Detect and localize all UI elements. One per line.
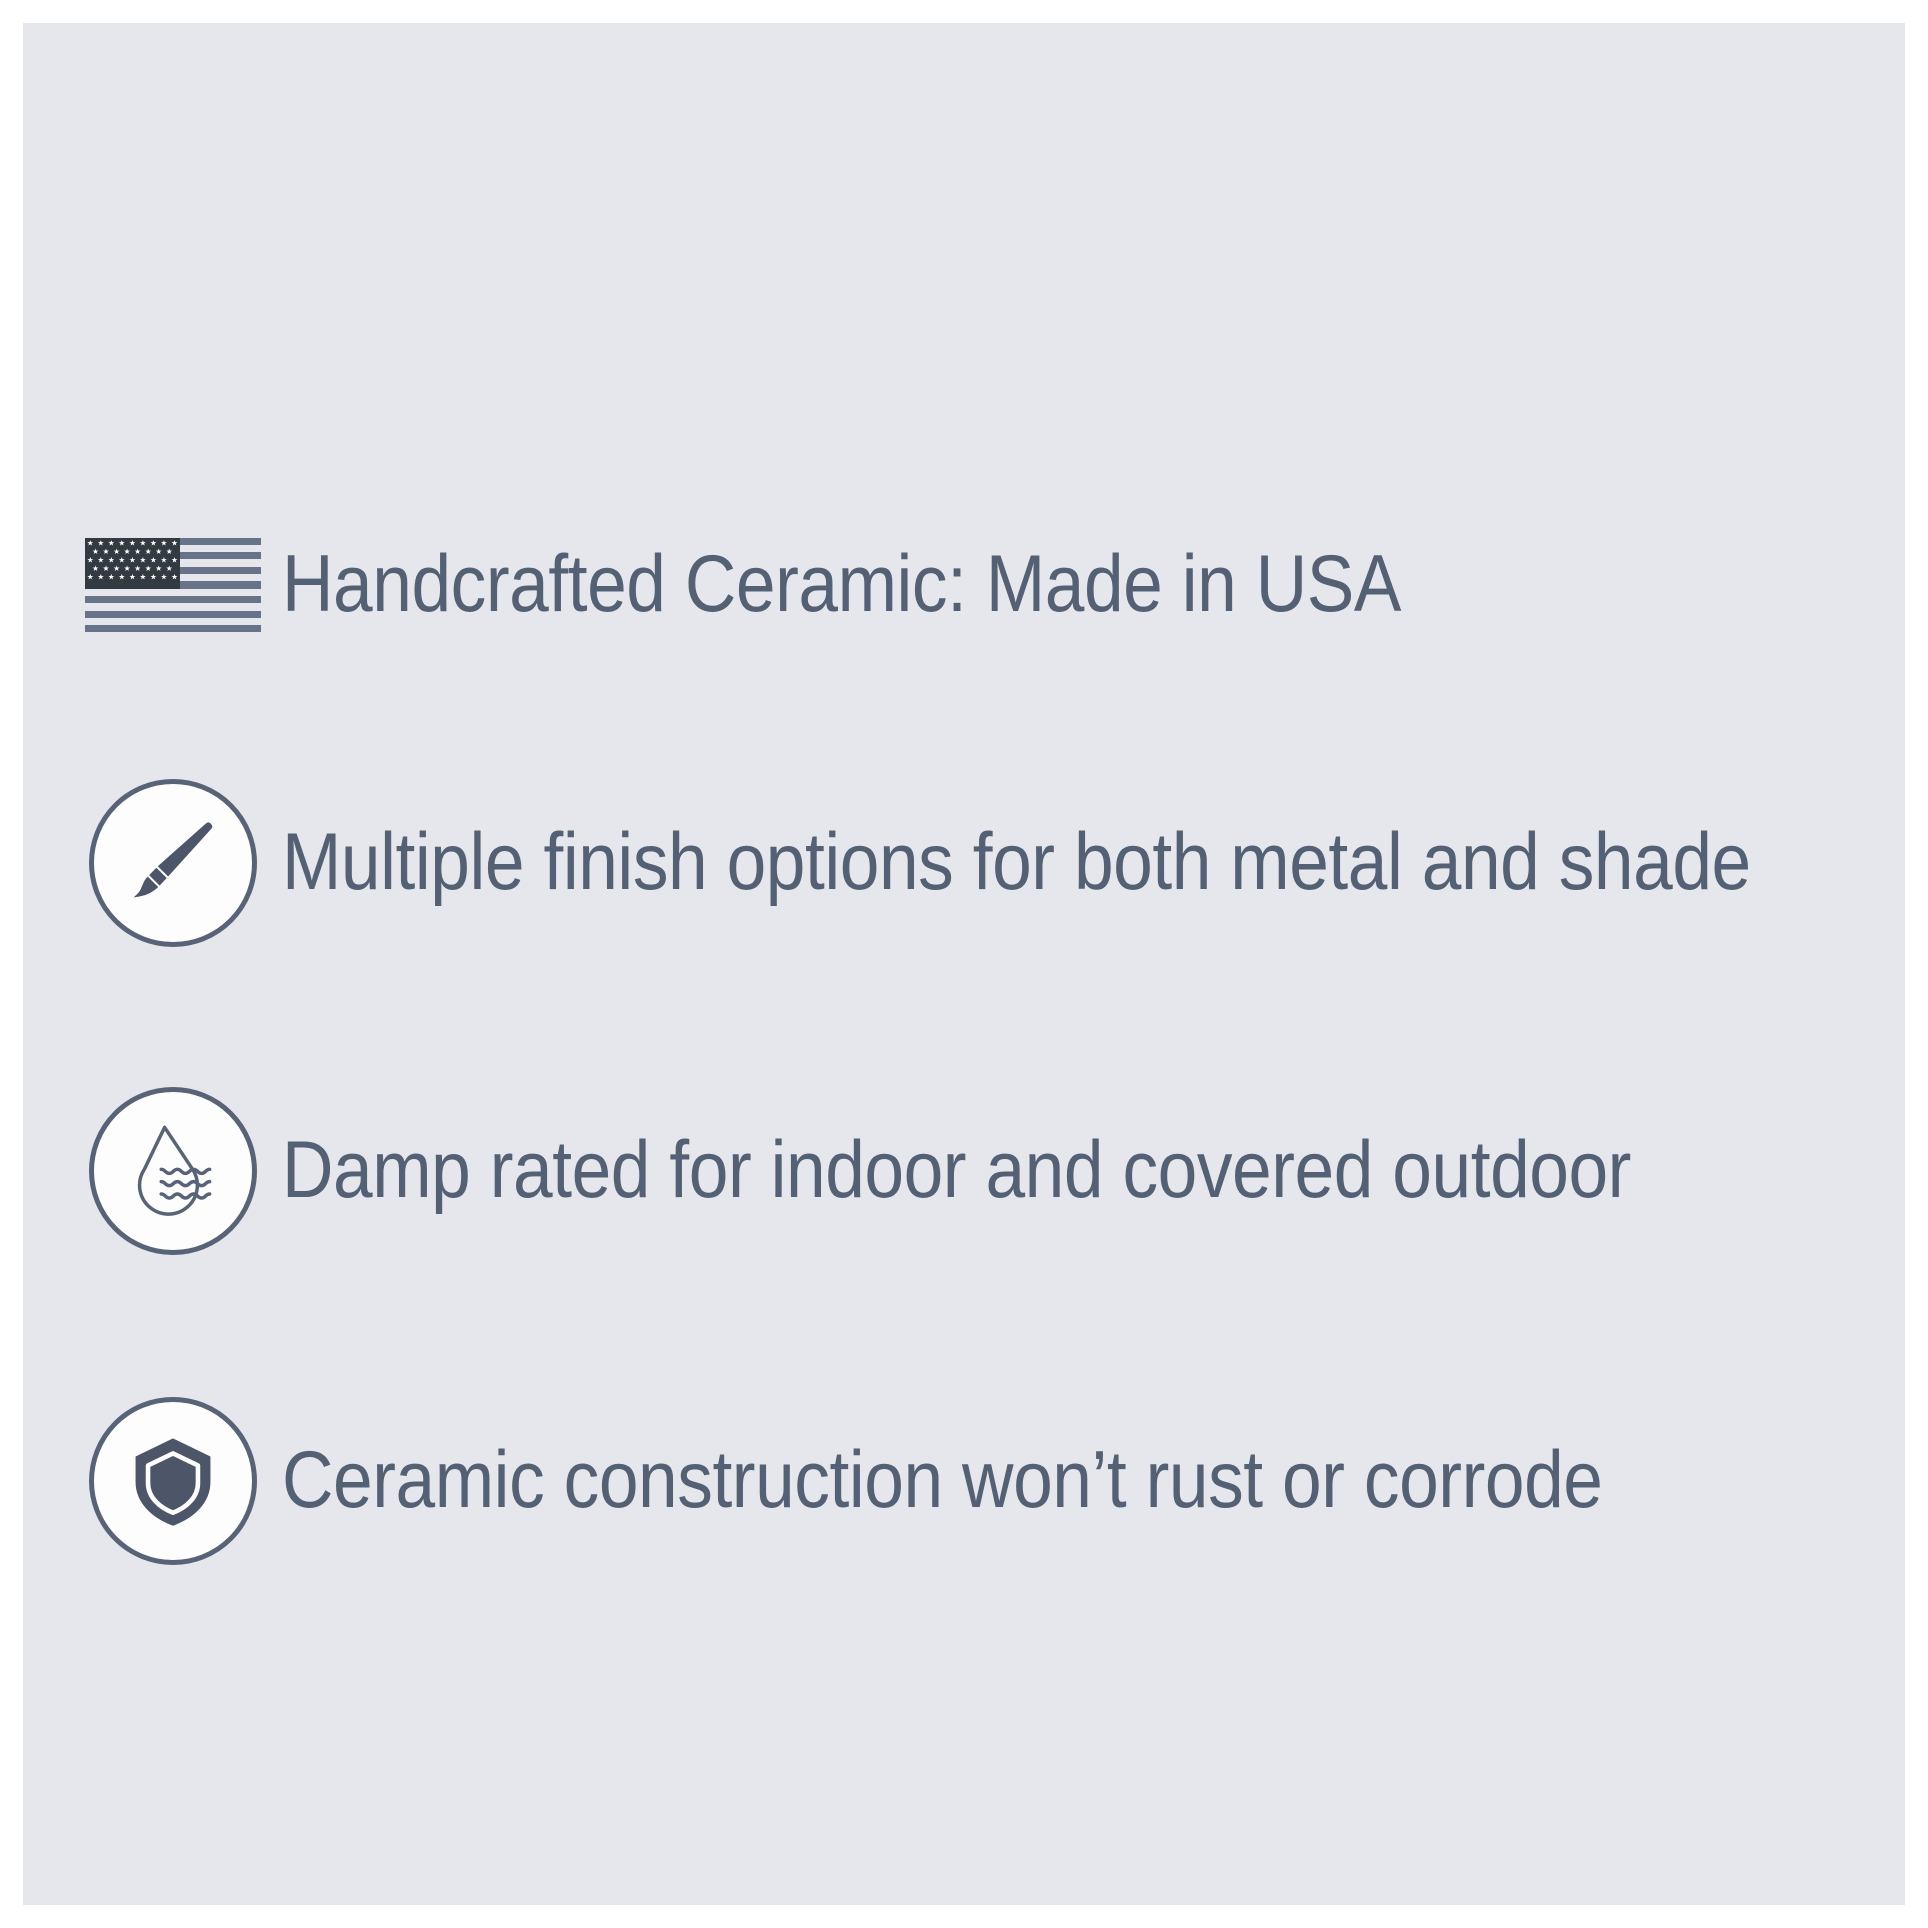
feature-row: Multiple finish options for both metal a… xyxy=(73,763,1893,963)
flag-canton xyxy=(85,538,180,589)
icon-slot xyxy=(73,1071,273,1271)
feature-row: Handcrafted Ceramic: Made in USA xyxy=(73,485,1893,685)
icon-slot xyxy=(73,1381,273,1581)
feature-row: Ceramic construction won’t rust or corro… xyxy=(73,1381,1893,1581)
icon-slot xyxy=(73,763,273,963)
paintbrush-icon xyxy=(89,779,257,947)
feature-text: Ceramic construction won’t rust or corro… xyxy=(282,1438,1602,1523)
feature-text: Multiple finish options for both metal a… xyxy=(282,820,1751,905)
feature-text: Damp rated for indoor and covered outdoo… xyxy=(282,1128,1631,1213)
shield-icon xyxy=(89,1397,257,1565)
feature-list: Handcrafted Ceramic: Made in USA Multipl… xyxy=(23,23,1905,1905)
feature-text: Handcrafted Ceramic: Made in USA xyxy=(282,542,1401,627)
feature-panel: Handcrafted Ceramic: Made in USA Multipl… xyxy=(23,23,1905,1905)
feature-row: Damp rated for indoor and covered outdoo… xyxy=(73,1071,1893,1271)
usa-flag-icon xyxy=(85,538,261,633)
icon-slot xyxy=(73,485,273,685)
water-droplet-waves-icon xyxy=(89,1087,257,1255)
